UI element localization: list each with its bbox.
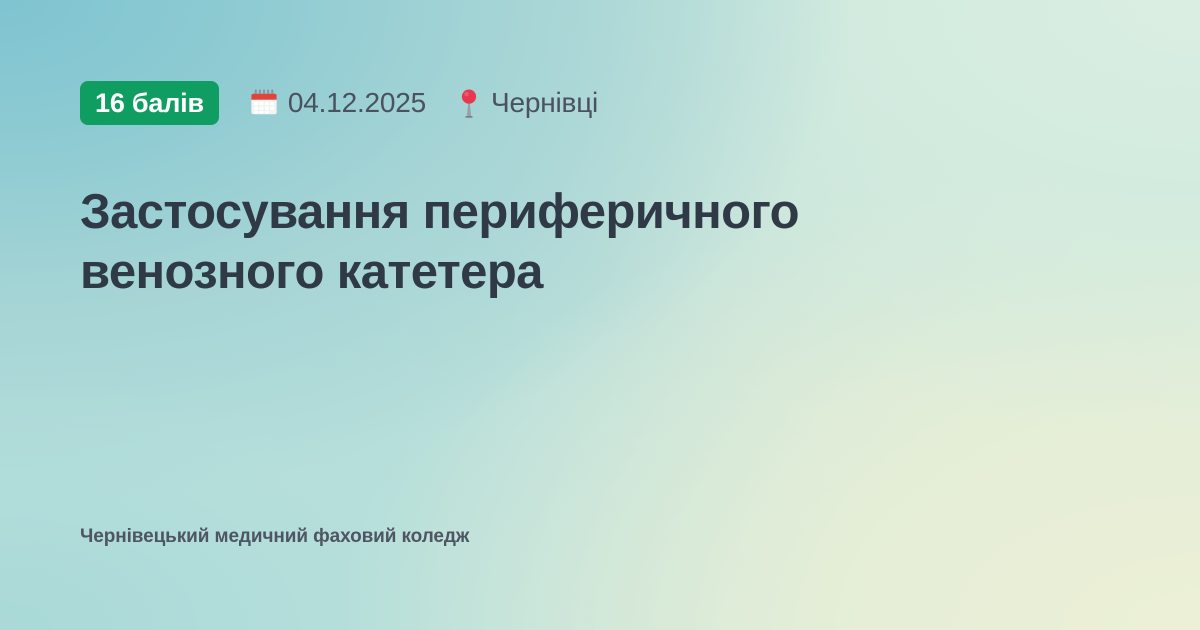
event-location-value: Чернівці [491, 87, 598, 119]
meta-row: 16 балів [80, 81, 598, 125]
page-title: Застосування периферичного венозного кат… [80, 182, 980, 302]
map-pin-icon [456, 88, 482, 118]
card-content: 16 балів [80, 0, 1120, 630]
event-date-value: 04.12.2025 [288, 87, 426, 119]
event-date: 04.12.2025 [249, 87, 426, 119]
calendar-icon [249, 88, 279, 118]
organization-name: Чернівецький медичний фаховий коледж [80, 526, 469, 548]
score-badge: 16 балів [80, 81, 219, 125]
event-location: Чернівці [456, 87, 598, 119]
event-card: 16 балів [0, 0, 1200, 630]
